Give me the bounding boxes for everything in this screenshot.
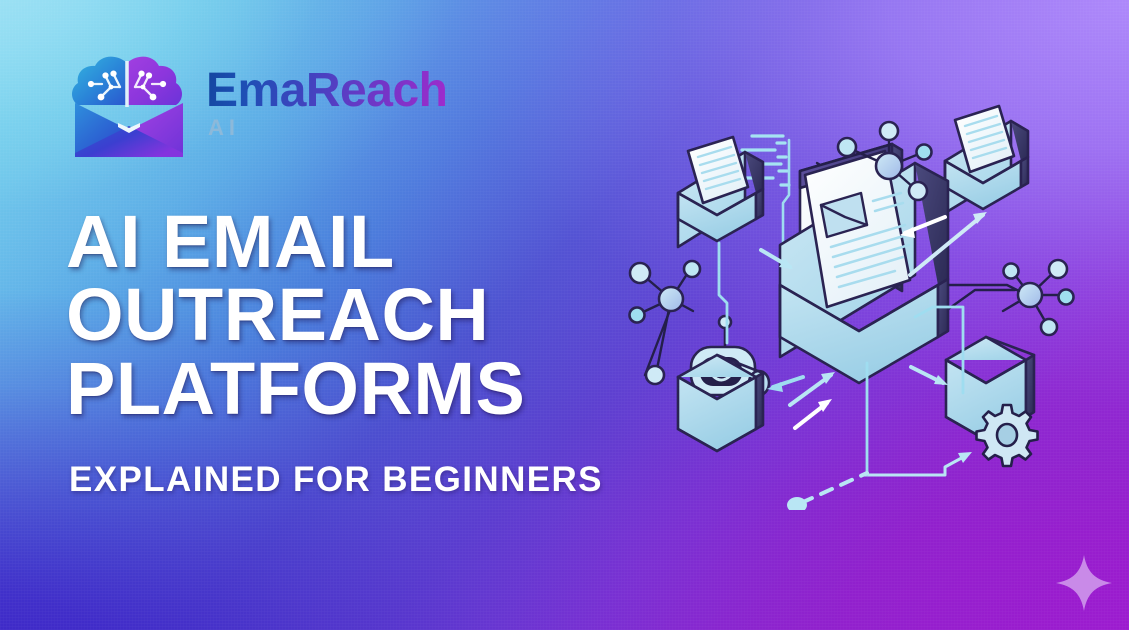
arrow-icon: [795, 399, 832, 428]
envelope-with-letter-icon: [945, 106, 1028, 213]
isometric-ai-email-outreach-illustration: [615, 95, 1125, 510]
dashed-path-dot-icon: [787, 473, 867, 510]
arrow-icon: [767, 377, 803, 392]
brand-name: EmaReach: [206, 67, 447, 114]
arrow-icon: [911, 367, 948, 385]
headline-line-2: OUTREACH: [66, 278, 666, 351]
banner-canvas: EmaReach AI AI EMAIL OUTREACH PLATFORMS …: [0, 0, 1129, 630]
network-nodes-icon: [1003, 260, 1074, 335]
brand-wordmark: EmaReach AI: [206, 67, 447, 141]
subheadline: EXPLAINED FOR BEGINNERS: [69, 460, 603, 500]
sparkle-four-point-icon: [1053, 552, 1115, 614]
brand-tagline: AI: [208, 115, 447, 141]
brand-logo: EmaReach AI: [62, 49, 447, 161]
envelope-with-letter-icon: [678, 137, 763, 247]
envelope-closed-icon: [678, 355, 763, 451]
headline-line-1: AI EMAIL: [66, 205, 666, 278]
gear-icon: [977, 405, 1038, 466]
headline-line-3: PLATFORMS: [66, 352, 666, 425]
headline-group: AI EMAIL OUTREACH PLATFORMS: [66, 205, 666, 425]
arrow-icon: [865, 452, 972, 475]
brain-envelope-icon: [62, 49, 196, 161]
